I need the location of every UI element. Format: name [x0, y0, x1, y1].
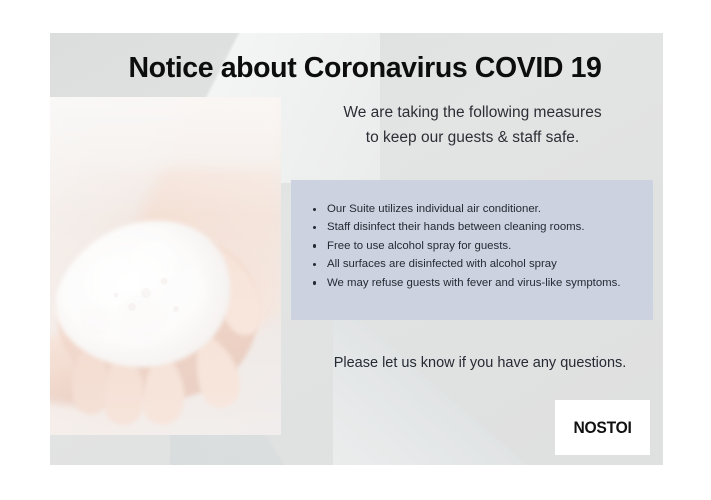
list-item: All surfaces are disinfected with alcoho… [309, 255, 659, 273]
brand-logo-card: NOSTOI [555, 400, 650, 455]
notice-slide: Notice about Coronavirus COVID 19 We are… [50, 33, 663, 465]
page-title: Notice about Coronavirus COVID 19 [85, 52, 645, 85]
measures-list: Our Suite utilizes individual air condit… [309, 200, 659, 292]
closing-message: Please let us know if you have any quest… [295, 355, 663, 371]
page-background: Notice about Coronavirus COVID 19 We are… [0, 0, 711, 500]
list-item: Staff disinfect their hands between clea… [309, 218, 659, 236]
list-item: We may refuse guests with fever and viru… [309, 274, 659, 292]
list-item: Free to use alcohol spray for guests. [309, 237, 659, 255]
hand-holding-soap-foam-photo [50, 97, 281, 435]
list-item: Our Suite utilizes individual air condit… [309, 200, 659, 218]
brand-logo-text: NOSTOI [573, 418, 631, 438]
subtitle-line-2: to keep our guests & staff safe. [295, 125, 650, 150]
subtitle: We are taking the following measures to … [295, 100, 650, 150]
subtitle-line-1: We are taking the following measures [295, 100, 650, 125]
